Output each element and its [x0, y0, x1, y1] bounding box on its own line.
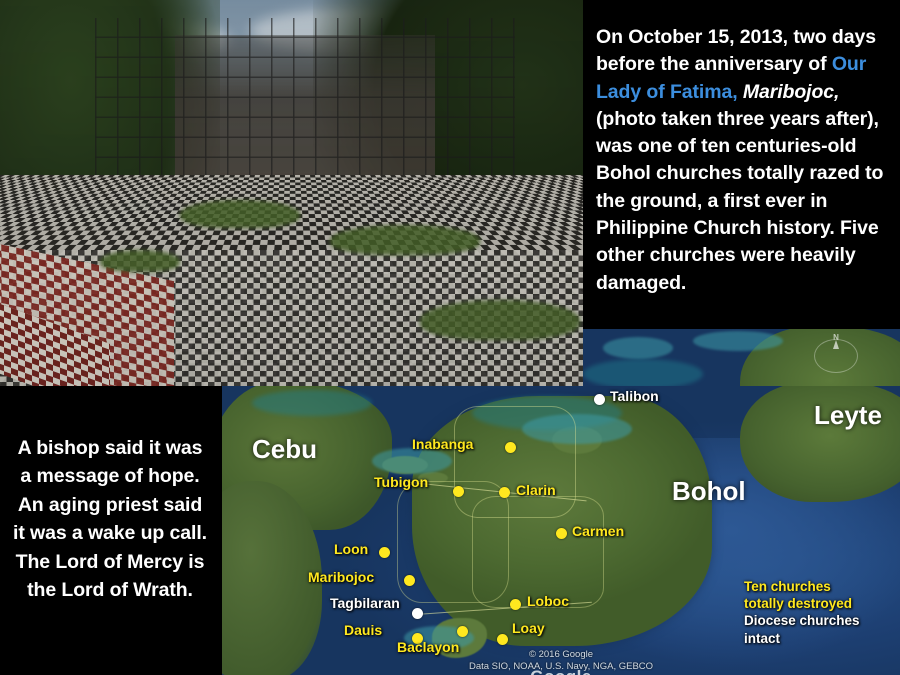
reef	[693, 331, 783, 351]
bottom-left-quote-panel: A bishop said it was a message of hope. …	[0, 386, 222, 675]
top-right-caption-panel: On October 15, 2013, two days before the…	[583, 0, 900, 329]
map-marker-inabanga[interactable]	[505, 442, 516, 453]
slide-canvas: On October 15, 2013, two days before the…	[0, 0, 900, 675]
map-label-inabanga: Inabanga	[412, 436, 473, 452]
map-label-tubigon: Tubigon	[374, 474, 428, 490]
caption-seg-italic-maribojoc: Maribojoc,	[743, 81, 840, 103]
compass-rose: N	[814, 333, 858, 373]
compass-north-label: N	[833, 333, 839, 342]
map-label-tagbilaran: Tagbilaran	[330, 595, 400, 611]
map-marker-tubigon[interactable]	[453, 486, 464, 497]
shoal	[583, 359, 703, 389]
map-label-talibon: Talibon	[610, 388, 659, 404]
top-caption-text: On October 15, 2013, two days before the…	[583, 0, 900, 297]
municipal-boundary	[397, 481, 509, 603]
reef	[603, 337, 673, 359]
legend-destroyed-line1: Ten churches	[744, 578, 894, 595]
map-copyright: © 2016 Google	[222, 649, 900, 661]
map-region-cebu: Cebu	[252, 434, 317, 465]
map-marker-loboc[interactable]	[510, 599, 521, 610]
map-marker-loay[interactable]	[497, 634, 508, 645]
map-region-bohol: Bohol	[672, 476, 746, 507]
map-label-loay: Loay	[512, 620, 545, 636]
photo-shading	[0, 0, 583, 386]
legend-intact-line2: intact	[744, 630, 894, 647]
map-label-loboc: Loboc	[527, 593, 569, 609]
bohol-map[interactable]: Cebu Bohol Leyte Talibon Inabanga Tubigo…	[222, 386, 900, 675]
map-label-maribojoc: Maribojoc	[308, 569, 374, 585]
map-label-dauis: Dauis	[344, 622, 382, 638]
map-marker-clarin[interactable]	[499, 487, 510, 498]
legend-intact-line1: Diocese churches	[744, 612, 894, 629]
map-marker-carmen[interactable]	[556, 528, 567, 539]
map-region-leyte: Leyte	[814, 400, 882, 431]
map-legend: Ten churches totally destroyed Diocese c…	[744, 578, 894, 647]
map-label-loon: Loon	[334, 541, 368, 557]
caption-seg-plain-2: (photo taken three years after), was one…	[596, 108, 883, 294]
bottom-quote-text: A bishop said it was a message of hope. …	[0, 386, 222, 605]
map-marker-tagbilaran[interactable]	[412, 608, 423, 619]
google-watermark: Google	[530, 667, 592, 675]
map-marker-talibon[interactable]	[594, 394, 605, 405]
shoal	[252, 390, 372, 416]
map-marker-loon[interactable]	[379, 547, 390, 558]
map-marker-maribojoc[interactable]	[404, 575, 415, 586]
map-marker-baclayon[interactable]	[457, 626, 468, 637]
church-ruins-photo	[0, 0, 583, 386]
map-label-carmen: Carmen	[572, 523, 624, 539]
map-label-clarin: Clarin	[516, 482, 556, 498]
legend-destroyed-line2: totally destroyed	[744, 595, 894, 612]
